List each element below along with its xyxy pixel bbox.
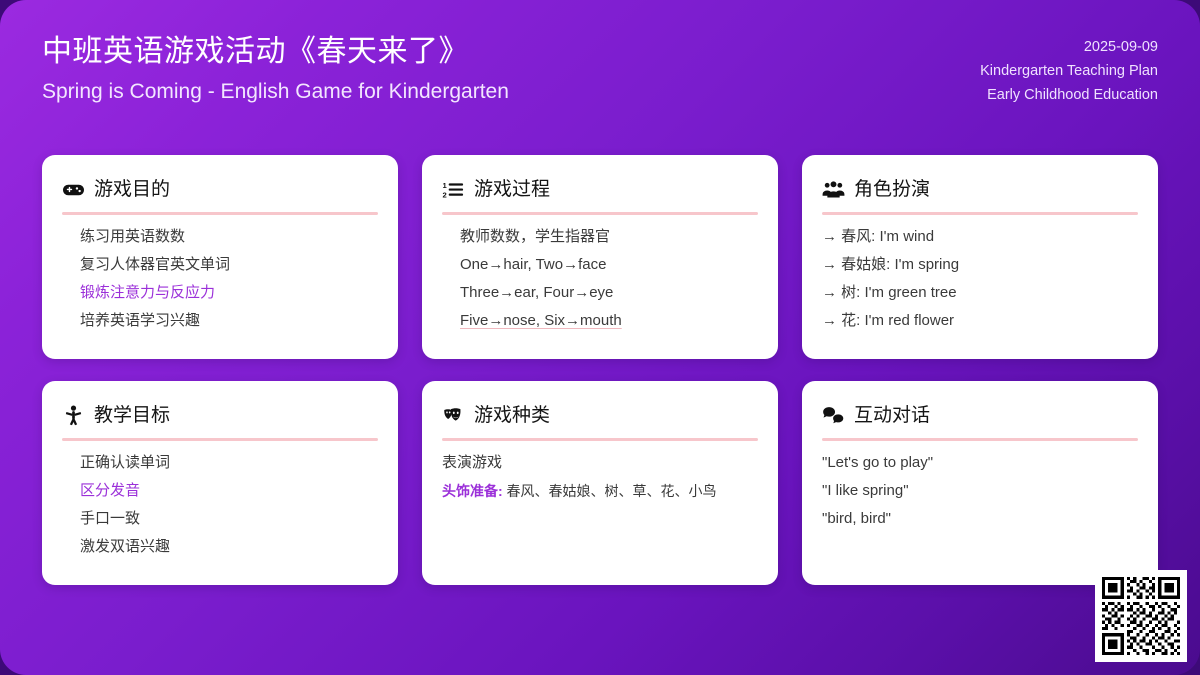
card-grid: 游戏目的 练习用英语数数 复习人体器官英文单词 锻炼注意力与反应力 培养英语学习… [42, 155, 1158, 585]
svg-text:2: 2 [442, 190, 446, 199]
list-item: 复习人体器官英文单词 [62, 251, 378, 279]
card-body: 表演游戏 头饰准备: 春风、春姑娘、树、草、花、小鸟 [442, 449, 758, 505]
theater-masks-icon [442, 404, 465, 427]
gamepad-icon [62, 178, 85, 201]
card-header: 游戏目的 [62, 175, 378, 203]
slide-root: 中班英语游戏活动《春天来了》 Spring is Coming - Englis… [0, 0, 1200, 675]
card-role-play: 角色扮演 → 春风: I'm wind → 春姑娘: I'm spring → … [802, 155, 1158, 359]
card-divider [442, 212, 758, 215]
list-item: One→hair, Two→face [442, 251, 758, 279]
card-header: 1 2 游戏过程 [442, 175, 758, 203]
card-title: 教学目标 [94, 406, 170, 425]
card-body: 教师数数，学生指器官 One→hair, Two→face Three→ear,… [442, 223, 758, 335]
card-header: 角色扮演 [822, 175, 1138, 203]
card-game-type: 游戏种类 表演游戏 头饰准备: 春风、春姑娘、树、草、花、小鸟 [422, 381, 778, 585]
svg-text:1: 1 [442, 181, 447, 190]
prop-note-label: 头饰准备: [442, 483, 503, 499]
qr-code[interactable] [1095, 570, 1187, 662]
card-divider [442, 438, 758, 441]
list-item: "bird, bird" [822, 505, 1138, 533]
list-item: 练习用英语数数 [62, 223, 378, 251]
list-item: 手口一致 [62, 505, 378, 533]
card-header: 游戏种类 [442, 401, 758, 429]
page-title-en: Spring is Coming - English Game for Kind… [42, 77, 509, 107]
list-item: 区分发音 [62, 477, 378, 505]
list-item: 激发双语兴趣 [62, 533, 378, 561]
card-interactive-dialogue: 互动对话 "Let's go to play" "I like spring" … [802, 381, 1158, 585]
card-body: "Let's go to play" "I like spring" "bird… [822, 449, 1138, 533]
ordered-list-icon: 1 2 [442, 178, 465, 201]
prop-note-text: 春风、春姑娘、树、草、花、小鸟 [503, 483, 717, 499]
child-person-icon [62, 404, 85, 427]
qr-code-image [1102, 577, 1180, 655]
card-title: 游戏目的 [94, 180, 170, 199]
list-item: "Let's go to play" [822, 449, 1138, 477]
meta-subject: Early Childhood Education [987, 84, 1158, 108]
list-item: "I like spring" [822, 477, 1138, 505]
card-title: 游戏种类 [474, 406, 550, 425]
title-block: 中班英语游戏活动《春天来了》 Spring is Coming - Englis… [42, 32, 509, 107]
chat-bubbles-icon [822, 404, 845, 427]
card-header: 教学目标 [62, 401, 378, 429]
list-item: 表演游戏 [442, 449, 758, 477]
list-item: 教师数数，学生指器官 [442, 223, 758, 251]
card-divider [822, 438, 1138, 441]
card-divider [822, 212, 1138, 215]
list-item: → 树: I'm green tree [822, 279, 1138, 307]
card-body: 练习用英语数数 复习人体器官英文单词 锻炼注意力与反应力 培养英语学习兴趣 [62, 223, 378, 335]
card-divider [62, 212, 378, 215]
card-game-purpose: 游戏目的 练习用英语数数 复习人体器官英文单词 锻炼注意力与反应力 培养英语学习… [42, 155, 398, 359]
list-item: → 春姑娘: I'm spring [822, 251, 1138, 279]
list-item: 正确认读单词 [62, 449, 378, 477]
meta-date: 2025-09-09 [1084, 36, 1158, 60]
prop-note: 头饰准备: 春风、春姑娘、树、草、花、小鸟 [442, 477, 758, 505]
list-item: Five→nose, Six→mouth [442, 307, 758, 335]
list-item: Three→ear, Four→eye [442, 279, 758, 307]
card-title: 角色扮演 [854, 180, 930, 199]
slide-header: 中班英语游戏活动《春天来了》 Spring is Coming - Englis… [42, 32, 1158, 108]
list-item: 培养英语学习兴趣 [62, 307, 378, 335]
list-item: 锻炼注意力与反应力 [62, 279, 378, 307]
header-meta: 2025-09-09 Kindergarten Teaching Plan Ea… [980, 32, 1158, 108]
card-body: → 春风: I'm wind → 春姑娘: I'm spring → 树: I'… [822, 223, 1138, 335]
card-teaching-goals: 教学目标 正确认读单词 区分发音 手口一致 激发双语兴趣 [42, 381, 398, 585]
card-game-process: 1 2 游戏过程 教师数数，学生指器官 One→hair, Two→face T… [422, 155, 778, 359]
card-divider [62, 438, 378, 441]
users-group-icon [822, 178, 845, 201]
card-body: 正确认读单词 区分发音 手口一致 激发双语兴趣 [62, 449, 378, 561]
list-item: → 花: I'm red flower [822, 307, 1138, 335]
card-header: 互动对话 [822, 401, 1138, 429]
meta-plan-type: Kindergarten Teaching Plan [980, 60, 1158, 84]
card-title: 互动对话 [854, 406, 930, 425]
page-title-cn: 中班英语游戏活动《春天来了》 [42, 32, 509, 72]
card-title: 游戏过程 [474, 180, 550, 199]
list-item: → 春风: I'm wind [822, 223, 1138, 251]
